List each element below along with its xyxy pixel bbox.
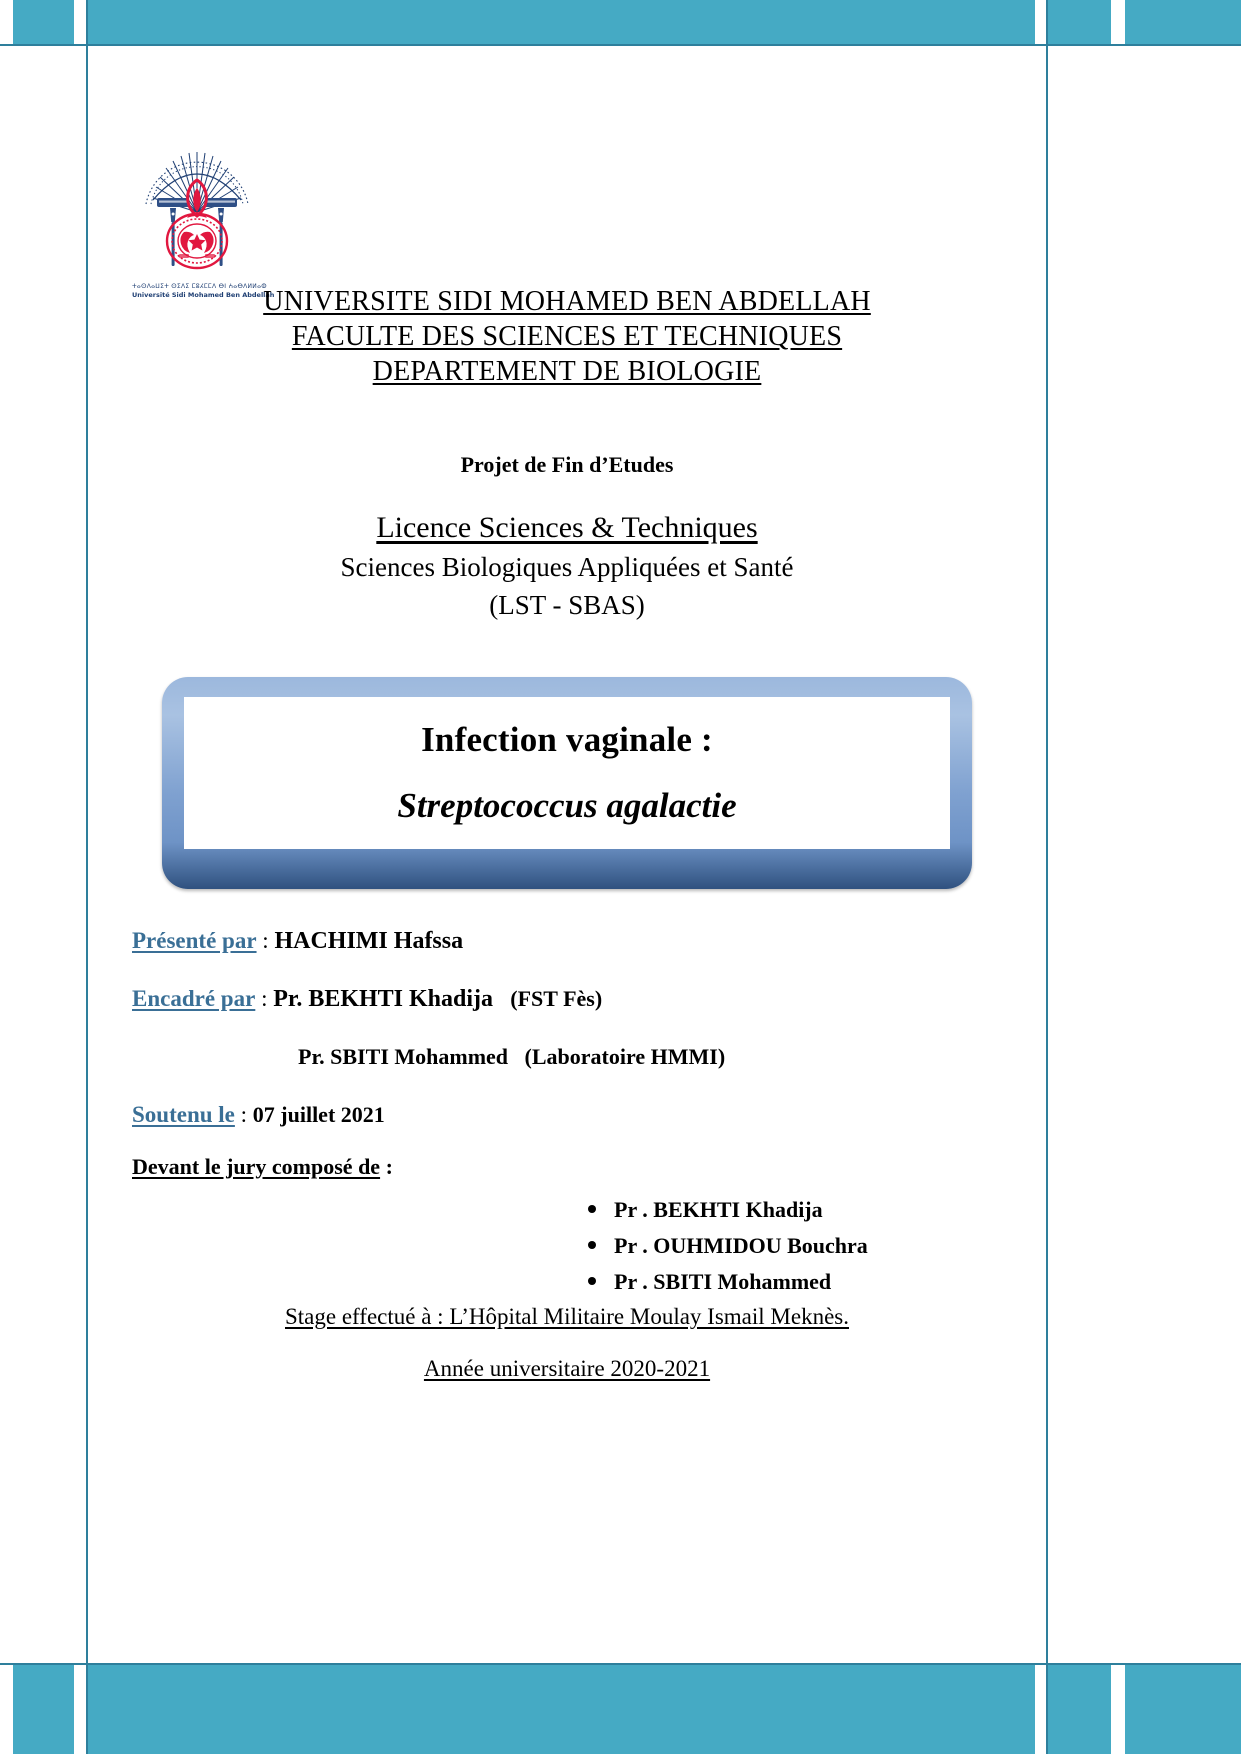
supervised-by-row: Encadré par : Pr. BEKHTI Khadija (FST Fè…: [132, 984, 1032, 1014]
academic-year-line: Année universitaire 2020-2021: [88, 1356, 1046, 1382]
supervisor-2-name: Pr. SBITI Mohammed: [298, 1044, 508, 1069]
jury-heading-text: Devant le jury composé de: [132, 1154, 380, 1179]
degree-title: Licence Sciences & Techniques: [88, 508, 1046, 548]
supervisor-1-name: Pr. BEKHTI Khadija: [273, 986, 493, 1012]
left-outer-gutter: [0, 0, 13, 1754]
university-logo: ⵜⴰⵙⴷⴰⵡⵉⵜ ⵙⵉⴷⵉ ⵎⵓⵃⵎⵎⴷ ⴱⵏ ⵄⴰⴱⴷⵍⵍⴰⵀ Univers…: [132, 120, 262, 300]
degree-specialty: Sciences Biologiques Appliquées et Santé: [88, 548, 1046, 586]
presented-by-separator: :: [257, 928, 275, 953]
presented-by-label: Présenté par: [132, 928, 257, 953]
credits-block: Présenté par : HACHIMI Hafssa Encadré pa…: [132, 926, 1032, 1158]
right-vertical-rule: [1046, 0, 1048, 1754]
faculty-name: FACULTE DES SCIENCES ET TECHNIQUES: [88, 319, 1046, 354]
presented-by-value: HACHIMI Hafssa: [274, 928, 463, 954]
right-outer-gutter: [1111, 0, 1125, 1754]
defence-date-row: Soutenu le : 07 juillet 2021: [132, 1100, 1032, 1130]
project-type: Projet de Fin d’Etudes: [88, 452, 1046, 478]
defence-date-separator: :: [235, 1102, 253, 1127]
university-name: UNIVERSITE SIDI MOHAMED BEN ABDELLAH: [88, 284, 1046, 319]
degree-block: Licence Sciences & Techniques Sciences B…: [88, 508, 1046, 624]
supervisor-1-affiliation: (FST Fès): [510, 986, 602, 1011]
bullet-icon: [588, 1277, 596, 1285]
presented-by-row: Présenté par : HACHIMI Hafssa: [132, 926, 1032, 956]
jury-member-name: Pr . BEKHTI Khadija: [614, 1197, 823, 1222]
document-page: ⵜⴰⵙⴷⴰⵡⵉⵜ ⵙⵉⴷⵉ ⵎⵓⵃⵎⵎⴷ ⴱⵏ ⵄⴰⴱⴷⵍⵍⴰⵀ Univers…: [0, 0, 1241, 1754]
degree-abbreviation: (LST - SBAS): [88, 586, 1046, 624]
thesis-title: Infection vaginale :: [421, 720, 713, 760]
list-item: Pr . SBITI Mohammed: [588, 1264, 968, 1300]
bullet-icon: [588, 1205, 596, 1213]
thesis-title-frame: Infection vaginale : Streptococcus agala…: [162, 677, 972, 889]
bullet-icon: [588, 1241, 596, 1249]
university-header: UNIVERSITE SIDI MOHAMED BEN ABDELLAH FAC…: [88, 284, 1046, 389]
defence-date-label: Soutenu le: [132, 1102, 235, 1127]
supervised-by-separator: :: [255, 986, 273, 1011]
list-item: Pr . BEKHTI Khadija: [588, 1192, 968, 1228]
supervised-by-label: Encadré par: [132, 986, 255, 1011]
jury-heading: Devant le jury composé de :: [132, 1154, 393, 1180]
jury-member-name: Pr . SBITI Mohammed: [614, 1269, 831, 1294]
cover-content: ⵜⴰⵙⴷⴰⵡⵉⵜ ⵙⵉⴷⵉ ⵎⵓⵃⵎⵎⴷ ⴱⵏ ⵄⴰⴱⴷⵍⵍⴰⵀ Univers…: [88, 46, 1046, 1663]
thesis-title-box: Infection vaginale : Streptococcus agala…: [184, 697, 950, 849]
list-item: Pr . OUHMIDOU Bouchra: [588, 1228, 968, 1264]
supervisor-2-row: Pr. SBITI Mohammed (Laboratoire HMMI): [132, 1042, 1032, 1072]
defence-date-value: 07 juillet 2021: [253, 1102, 385, 1127]
internship-line: Stage effectué à : L’Hôpital Militaire M…: [88, 1304, 1046, 1330]
supervisor-2-affiliation: (Laboratoire HMMI): [525, 1044, 726, 1069]
jury-list: Pr . BEKHTI Khadija Pr . OUHMIDOU Bouchr…: [88, 1192, 1046, 1300]
usmba-crest-icon: [132, 120, 262, 278]
top-accent-band: [0, 0, 1241, 44]
bottom-horizontal-rule: [0, 1663, 1241, 1665]
jury-member-name: Pr . OUHMIDOU Bouchra: [614, 1233, 868, 1258]
jury-heading-colon: :: [380, 1154, 393, 1179]
bottom-accent-band: [0, 1664, 1241, 1754]
department-name: DEPARTEMENT DE BIOLOGIE: [88, 354, 1046, 389]
thesis-subtitle: Streptococcus agalactie: [397, 786, 736, 826]
